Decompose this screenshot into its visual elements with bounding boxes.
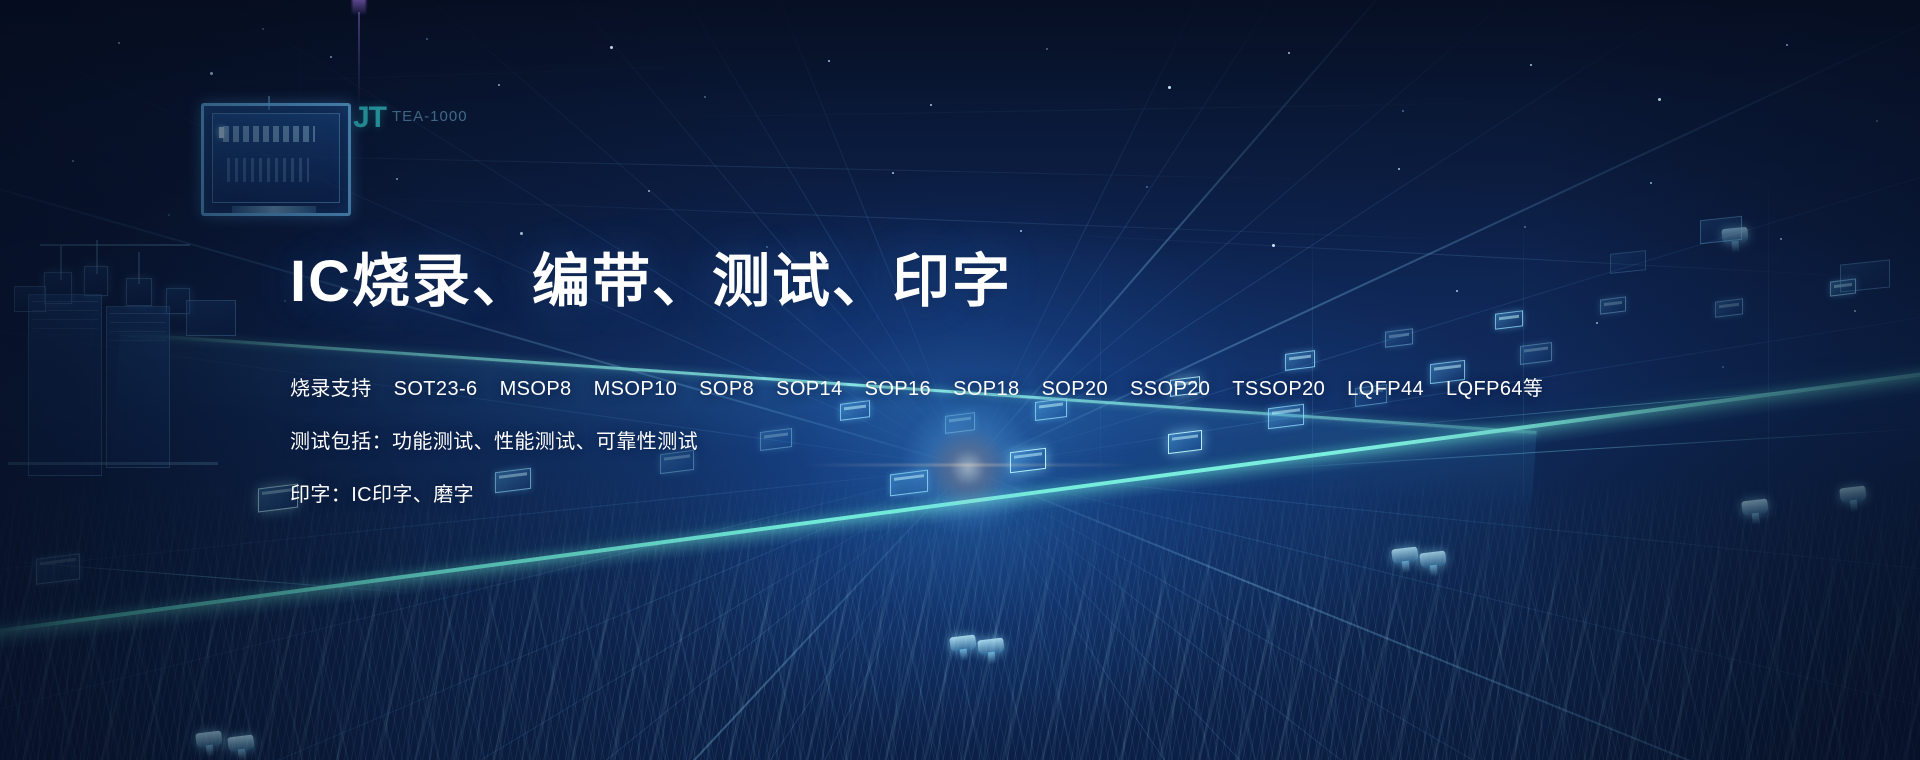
purple-accent-stem xyxy=(358,12,360,108)
package-msop10: MSOP10 xyxy=(594,378,678,400)
package-msop8: MSOP8 xyxy=(500,378,572,400)
monitor-base xyxy=(232,206,316,213)
machine-cabinet-left xyxy=(28,294,102,476)
banner-content: IC烧录、编带、测试、印字 烧录支持SOT23-6MSOP8MSOP10SOP8… xyxy=(290,250,1590,505)
machine-base-rail xyxy=(8,462,218,465)
monitor-rack-graphic xyxy=(223,126,315,142)
machine-head-a xyxy=(44,272,72,304)
marking-scope-line: 印字：IC印字、磨字 xyxy=(290,485,1590,505)
jt-brand-logo: JT xyxy=(353,101,386,135)
package-lqfp64: LQFP64等 xyxy=(1446,378,1543,400)
testing-scope-line: 测试包括：功能测试、性能测试、可靠性测试 xyxy=(290,432,1590,452)
machine-module-right xyxy=(186,300,236,336)
package-sot23-6: SOT23-6 xyxy=(394,378,478,400)
package-sop14: SOP14 xyxy=(776,378,842,400)
hero-banner: JT TEA-1000 IC烧录、编带、测试、印字 烧录支持SOT23-6MSO… xyxy=(0,0,1920,760)
machine-gantry-bar xyxy=(40,244,190,246)
machine-cabinet-mid xyxy=(106,306,170,468)
burn-support-prefix: 烧录支持 xyxy=(290,378,372,400)
jt-model-label: TEA-1000 xyxy=(392,108,468,125)
machine-pipe-3 xyxy=(138,252,140,284)
package-sop8: SOP8 xyxy=(699,378,754,400)
monitor-detail-graphic xyxy=(227,158,309,182)
package-ssop20: SSOP20 xyxy=(1130,378,1210,400)
machine-pipe-1 xyxy=(60,246,62,280)
overhead-monitor xyxy=(201,103,351,216)
package-sop18: SOP18 xyxy=(953,378,1019,400)
package-tssop20: TSSOP20 xyxy=(1232,378,1325,400)
monitor-screen xyxy=(212,113,340,203)
machine-module-left xyxy=(14,286,46,312)
burn-support-line: 烧录支持SOT23-6MSOP8MSOP10SOP8SOP14SOP16SOP1… xyxy=(290,379,1590,399)
page-title: IC烧录、编带、测试、印字 xyxy=(290,250,1590,315)
package-sop20: SOP20 xyxy=(1042,378,1108,400)
package-lqfp44: LQFP44 xyxy=(1347,378,1424,400)
package-sop16: SOP16 xyxy=(865,378,931,400)
